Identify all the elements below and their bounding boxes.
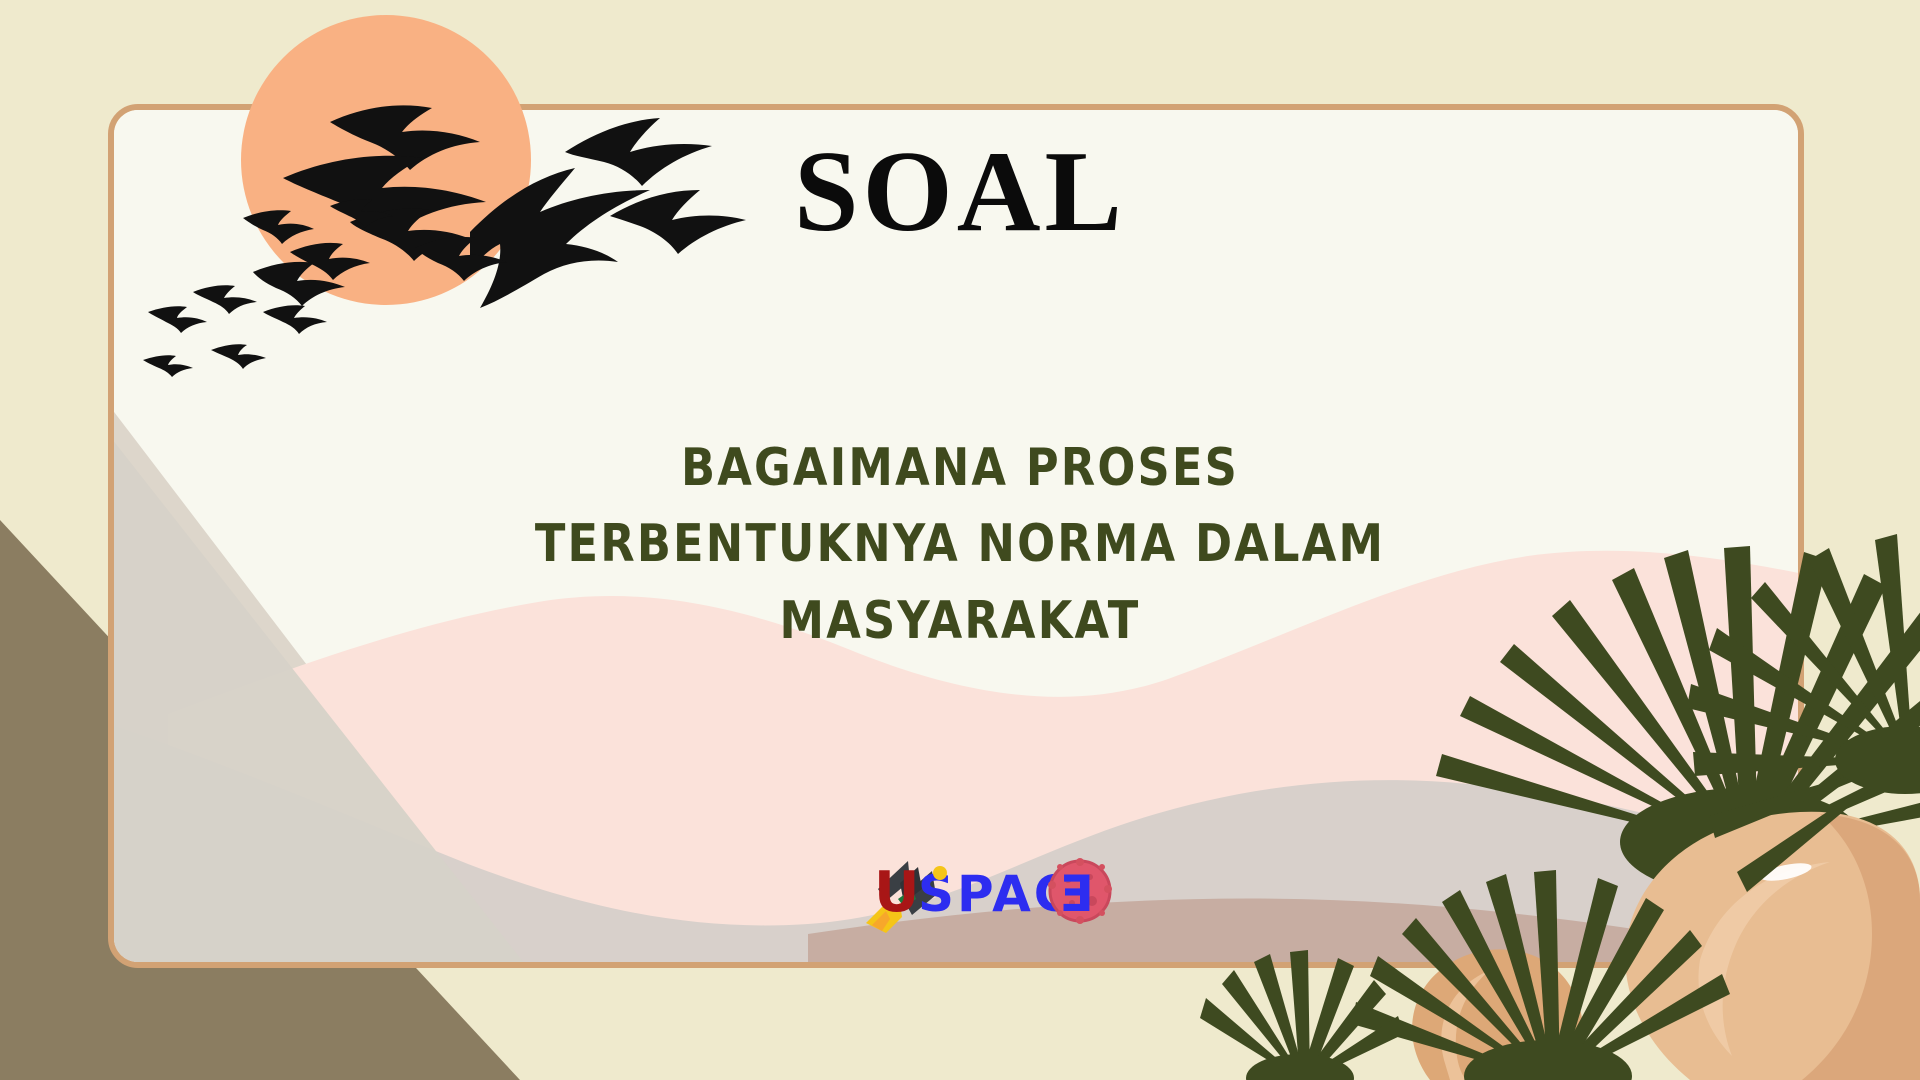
logo-letter-e: E [1060, 865, 1094, 923]
uspace-logo: U SPAC E [856, 845, 1156, 935]
logo-dot [933, 866, 947, 880]
question-line-1: BAGAIMANA PROSES [453, 430, 1468, 506]
slide-canvas: SOAL BAGAIMANA PROSES TERBENTUKNYA NORMA… [0, 0, 1920, 1080]
logo-letter-u: U [874, 860, 919, 925]
question-line-2: TERBENTUKNYA NORMA DALAM [453, 506, 1468, 582]
page-title: SOAL [0, 134, 1920, 250]
question-block: BAGAIMANA PROSES TERBENTUKNYA NORMA DALA… [370, 430, 1550, 659]
question-line-3: MASYARAKAT [453, 583, 1468, 659]
